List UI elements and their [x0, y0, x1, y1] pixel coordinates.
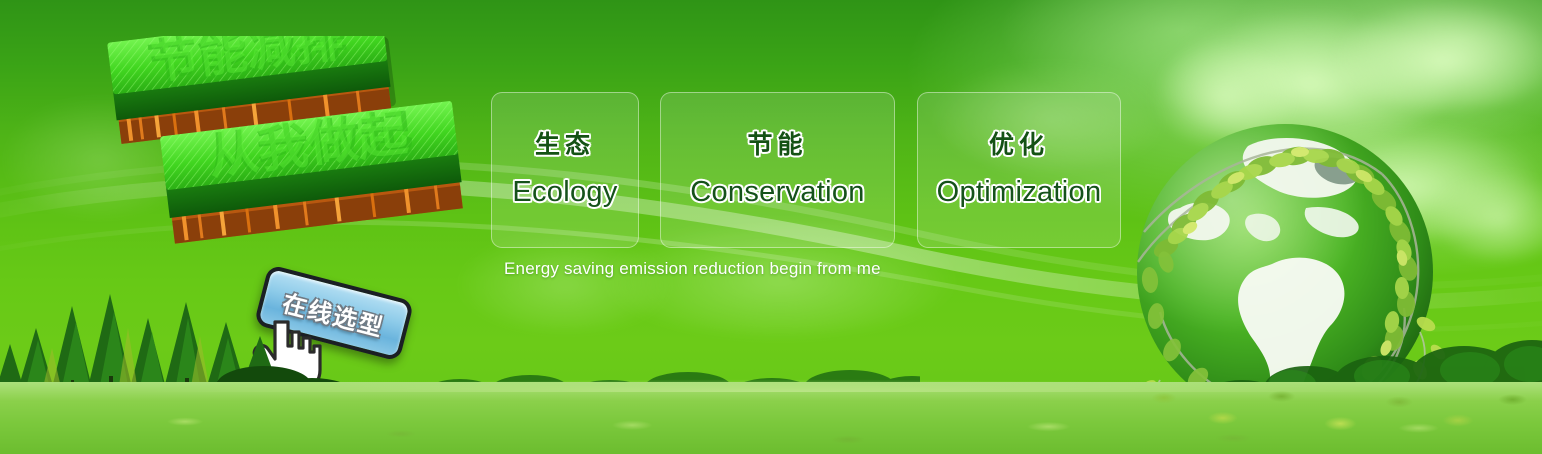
feature-card-cn-label: 优化 — [989, 133, 1049, 158]
feature-card-optimization[interactable]: 优化 Optimization — [917, 92, 1121, 248]
leaf-litter — [1122, 374, 1542, 454]
feature-card-ecology[interactable]: 生态 Ecology — [491, 92, 639, 248]
cta-area: 在线选型 — [249, 268, 424, 378]
cloud — [1330, 0, 1542, 110]
feature-card-conservation[interactable]: 节能 Conservation — [660, 92, 895, 248]
grass-field — [0, 382, 1542, 454]
banner-root: 节能减排 节能减排 GREEN GREEN — [0, 0, 1542, 454]
feature-card-en-label: Ecology — [512, 178, 617, 207]
tagline-text: Energy saving emission reduction begin f… — [504, 259, 881, 279]
headline-3d-text: 节能减排 节能减排 GREEN GREEN — [96, 36, 496, 271]
feature-card-cn-label: 生态 — [535, 133, 595, 158]
feature-card-cn-label: 节能 — [747, 133, 807, 158]
feature-card-en-label: Optimization — [937, 178, 1102, 207]
feature-card-en-label: Conservation — [690, 178, 864, 207]
